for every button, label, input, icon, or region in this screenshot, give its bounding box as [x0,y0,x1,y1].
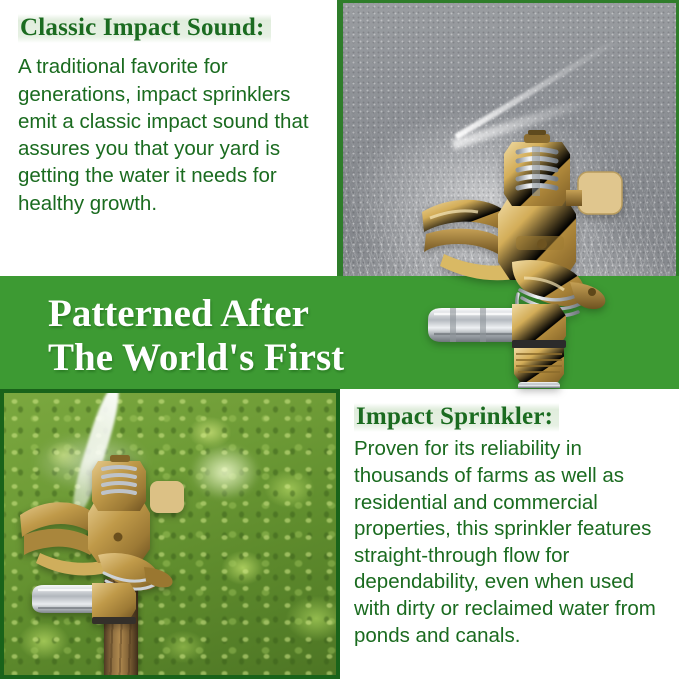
heading-wrap-bottom-right: Impact Sprinkler: [354,403,669,432]
feature-heading-impact-sprinkler: Impact Sprinkler: [354,403,559,432]
product-feature-graphic: Classic Impact Sound: A traditional favo… [0,0,679,679]
feature-body-impact-sprinkler: Proven for its reliability in thousands … [354,436,669,649]
banner-headline: Patterned After The World's First [48,292,344,381]
feature-heading-classic-impact-sound: Classic Impact Sound: [18,14,271,43]
sprinkler-garden-illustration [18,451,236,641]
feature-body-classic-impact-sound: A traditional favorite for generations, … [18,53,324,217]
panel-divider-vertical [337,0,340,276]
product-photo-sprinkler-in-garden [0,389,340,679]
sprinkler-hero-illustration [420,128,670,390]
feature-panel-impact-sprinkler: Impact Sprinkler: Proven for its reliabi… [340,389,679,679]
heading-wrap-top-left: Classic Impact Sound: [18,14,324,43]
feature-panel-classic-impact-sound: Classic Impact Sound: A traditional favo… [0,0,340,276]
